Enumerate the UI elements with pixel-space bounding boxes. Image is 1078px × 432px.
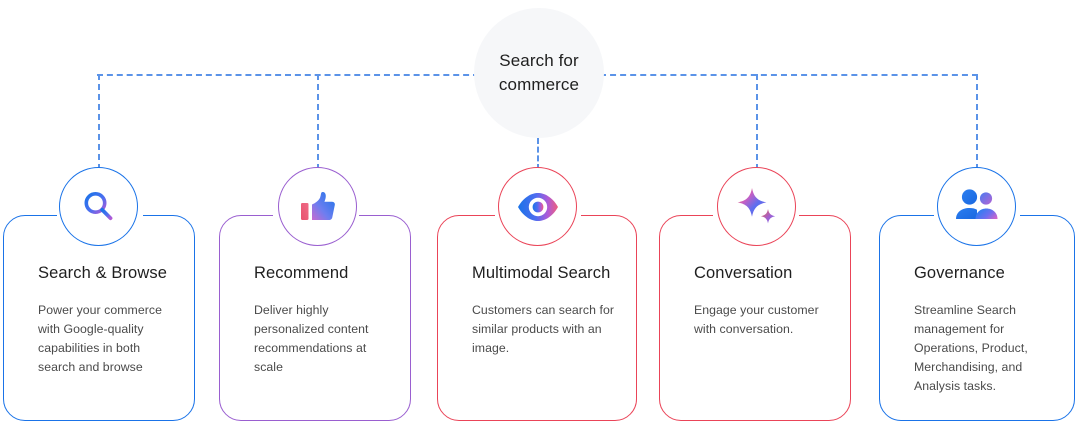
card-title: Search & Browse	[38, 264, 167, 283]
icon-circle-multimodal-search	[498, 167, 577, 246]
icon-circle-search-browse	[59, 167, 138, 246]
icon-circle-governance	[937, 167, 1016, 246]
thumbs-up-icon	[297, 187, 339, 227]
connector-right-horizontal	[600, 74, 978, 76]
card-description: Streamline Search management for Operati…	[914, 301, 1052, 396]
card-title: Conversation	[694, 264, 792, 283]
connector-left-horizontal	[97, 74, 479, 76]
card-description: Power your commerce with Google-quality …	[38, 301, 172, 377]
card-description: Engage your customer with conversation.	[694, 301, 828, 339]
hub-label: Search for commerce	[499, 49, 579, 97]
connector-vertical-card-1	[98, 74, 100, 170]
connector-vertical-card-5	[976, 74, 978, 170]
card-description: Deliver highly personalized content reco…	[254, 301, 388, 377]
diagram-canvas: Search for commerce Search & Browse Powe…	[0, 0, 1078, 432]
icon-circle-recommend	[278, 167, 357, 246]
sparkle-icon	[735, 186, 779, 228]
connector-vertical-card-2	[317, 74, 319, 170]
card-title: Governance	[914, 264, 1005, 283]
icon-circle-conversation	[717, 167, 796, 246]
hub-node: Search for commerce	[474, 8, 604, 138]
card-title: Recommend	[254, 264, 348, 283]
card-title: Multimodal Search	[472, 264, 610, 283]
people-icon	[954, 188, 1000, 226]
magnifier-icon	[79, 187, 119, 227]
connector-vertical-card-4	[756, 74, 758, 170]
eye-icon	[515, 190, 561, 224]
connector-vertical-card-3	[537, 138, 539, 170]
card-description: Customers can search for similar product…	[472, 301, 614, 358]
